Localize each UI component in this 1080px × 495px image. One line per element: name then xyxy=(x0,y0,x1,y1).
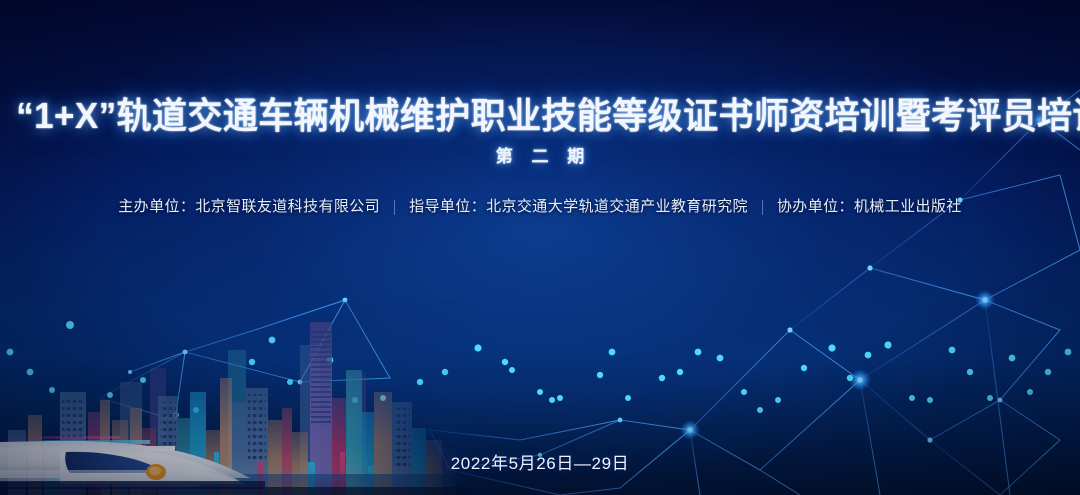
vignette-overlay xyxy=(0,0,1080,495)
organizer-advisor: 指导单位：北京交通大学轨道交通产业教育研究院 xyxy=(395,196,762,218)
organizer-coorganizer: 协办单位：机械工业出版社 xyxy=(763,196,976,218)
page-subtitle: 第 二 期 xyxy=(0,145,1080,169)
conference-banner: “1+X”轨道交通车辆机械维护职业技能等级证书师资培训暨考评员培训班 第 二 期… xyxy=(0,0,1080,495)
high-speed-train xyxy=(0,0,1080,495)
organizer-host: 主办单位：北京智联友道科技有限公司 xyxy=(104,196,394,218)
antenna-pins xyxy=(0,0,1080,495)
event-date: 2022年5月26日—29日 xyxy=(0,452,1080,476)
city-skyline xyxy=(0,0,1080,495)
organizer-line: 主办单位：北京智联友道科技有限公司 指导单位：北京交通大学轨道交通产业教育研究院… xyxy=(0,196,1080,218)
background-glow xyxy=(0,0,1080,495)
page-title: “1+X”轨道交通车辆机械维护职业技能等级证书师资培训暨考评员培训班 xyxy=(16,94,1064,138)
network-mesh xyxy=(0,0,1080,495)
